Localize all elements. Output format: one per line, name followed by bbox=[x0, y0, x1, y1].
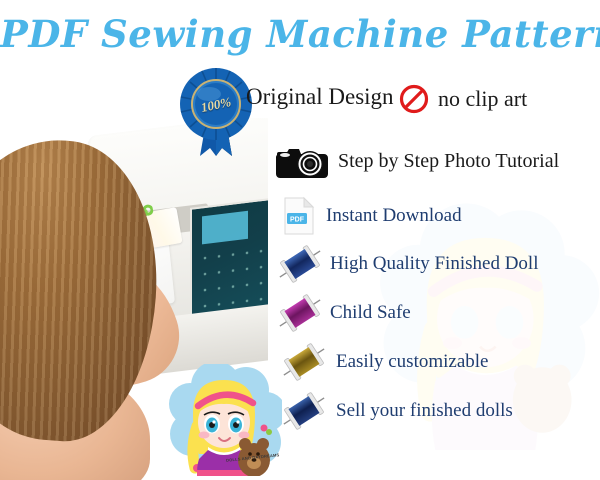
brand-doll-logo: DOLLS AND DAYDREAMS bbox=[166, 364, 282, 476]
thread-spool-icon bbox=[278, 245, 322, 283]
page-title: PDF Sewing Machine Pattern bbox=[0, 12, 600, 56]
feature-photo-tutorial: Step by Step Photo Tutorial bbox=[276, 142, 559, 180]
feature-label: High Quality Finished Doll bbox=[330, 253, 538, 275]
feature-no-clip-art: no clip art bbox=[399, 84, 527, 114]
feature-label: no clip art bbox=[438, 86, 527, 112]
feature-label: Child Safe bbox=[330, 302, 411, 324]
award-rosette-icon: 100% bbox=[176, 64, 256, 156]
feature-label: Instant Download bbox=[326, 205, 462, 227]
feature-original-design: Original Design bbox=[246, 84, 394, 110]
feature-label: Original Design bbox=[246, 84, 394, 110]
thread-spool-icon bbox=[282, 392, 326, 430]
feature-sell-finished-dolls: Sell your finished dolls bbox=[282, 392, 513, 430]
feature-instant-download: PDF Instant Download bbox=[282, 196, 462, 236]
svg-text:PDF: PDF bbox=[290, 217, 305, 224]
doll-illustration bbox=[166, 364, 282, 476]
pdf-file-icon: PDF bbox=[282, 196, 316, 236]
thread-spool-icon bbox=[278, 294, 322, 332]
camera-icon bbox=[276, 142, 328, 180]
thread-spool-icon bbox=[282, 343, 326, 381]
feature-high-quality-doll: High Quality Finished Doll bbox=[278, 245, 538, 283]
feature-label: Step by Step Photo Tutorial bbox=[338, 150, 559, 173]
background-watermark-doll bbox=[356, 200, 600, 480]
no-clip-art-icon bbox=[399, 84, 429, 114]
feature-label: Sell your finished dolls bbox=[336, 400, 513, 422]
feature-easily-customizable: Easily customizable bbox=[282, 343, 488, 381]
feature-child-safe: Child Safe bbox=[278, 294, 411, 332]
screen-highlight bbox=[202, 211, 248, 245]
poster-canvas: PDF Sewing Machine Pattern bbox=[0, 0, 600, 480]
feature-label: Easily customizable bbox=[336, 351, 488, 373]
